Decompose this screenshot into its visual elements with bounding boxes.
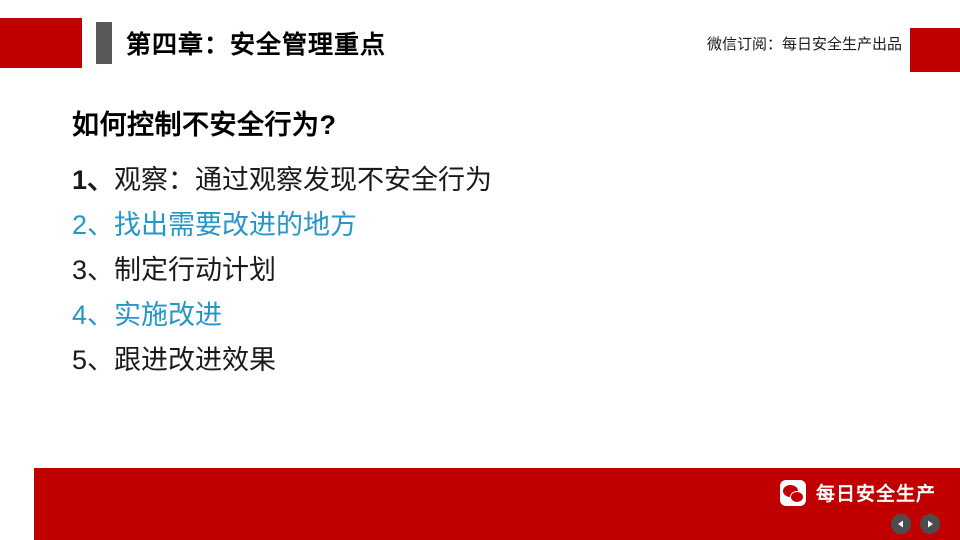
chapter-title: 第四章：安全管理重点 xyxy=(126,25,386,61)
slide-title-bar: 第四章：安全管理重点 xyxy=(96,22,386,64)
slide: 第四章：安全管理重点 微信订阅：每日安全生产出品 如何控制不安全行为? 1、观察… xyxy=(0,0,960,540)
footer-white-notch xyxy=(0,468,34,540)
list-item-number: 1、 xyxy=(72,165,114,195)
list-item-number: 3、 xyxy=(72,255,114,285)
list-item-text: 制定行动计划 xyxy=(114,255,276,285)
footer-brand: 每日安全生产 xyxy=(780,479,936,506)
list-item: 4、实施改进 xyxy=(72,293,852,338)
arrow-right-icon[interactable] xyxy=(920,514,940,534)
slide-navigation[interactable] xyxy=(891,514,940,534)
list-item-text: 找出需要改进的地方 xyxy=(114,210,357,240)
footer-brand-label: 每日安全生产 xyxy=(816,479,936,506)
list-item: 5、跟进改进效果 xyxy=(72,338,852,383)
wechat-icon xyxy=(780,480,806,506)
content-heading: 如何控制不安全行为? xyxy=(72,103,337,142)
list-item-text: 观察：通过观察发现不安全行为 xyxy=(114,165,492,195)
list-item-number: 5、 xyxy=(72,345,114,375)
list-item: 1、观察：通过观察发现不安全行为 xyxy=(72,158,852,203)
arrow-left-icon[interactable] xyxy=(891,514,911,534)
top-right-red-block xyxy=(910,28,960,72)
list-item: 2、找出需要改进的地方 xyxy=(72,203,852,248)
content-list: 1、观察：通过观察发现不安全行为 2、找出需要改进的地方 3、制定行动计划 4、… xyxy=(72,158,852,383)
title-accent-tab xyxy=(96,22,112,64)
wechat-subscription-note: 微信订阅：每日安全生产出品 xyxy=(707,33,902,54)
list-item-number: 4、 xyxy=(72,300,114,330)
list-item-text: 跟进改进效果 xyxy=(114,345,276,375)
list-item-text: 实施改进 xyxy=(114,300,222,330)
list-item: 3、制定行动计划 xyxy=(72,248,852,293)
top-left-red-block xyxy=(0,18,82,68)
list-item-number: 2、 xyxy=(72,210,114,240)
